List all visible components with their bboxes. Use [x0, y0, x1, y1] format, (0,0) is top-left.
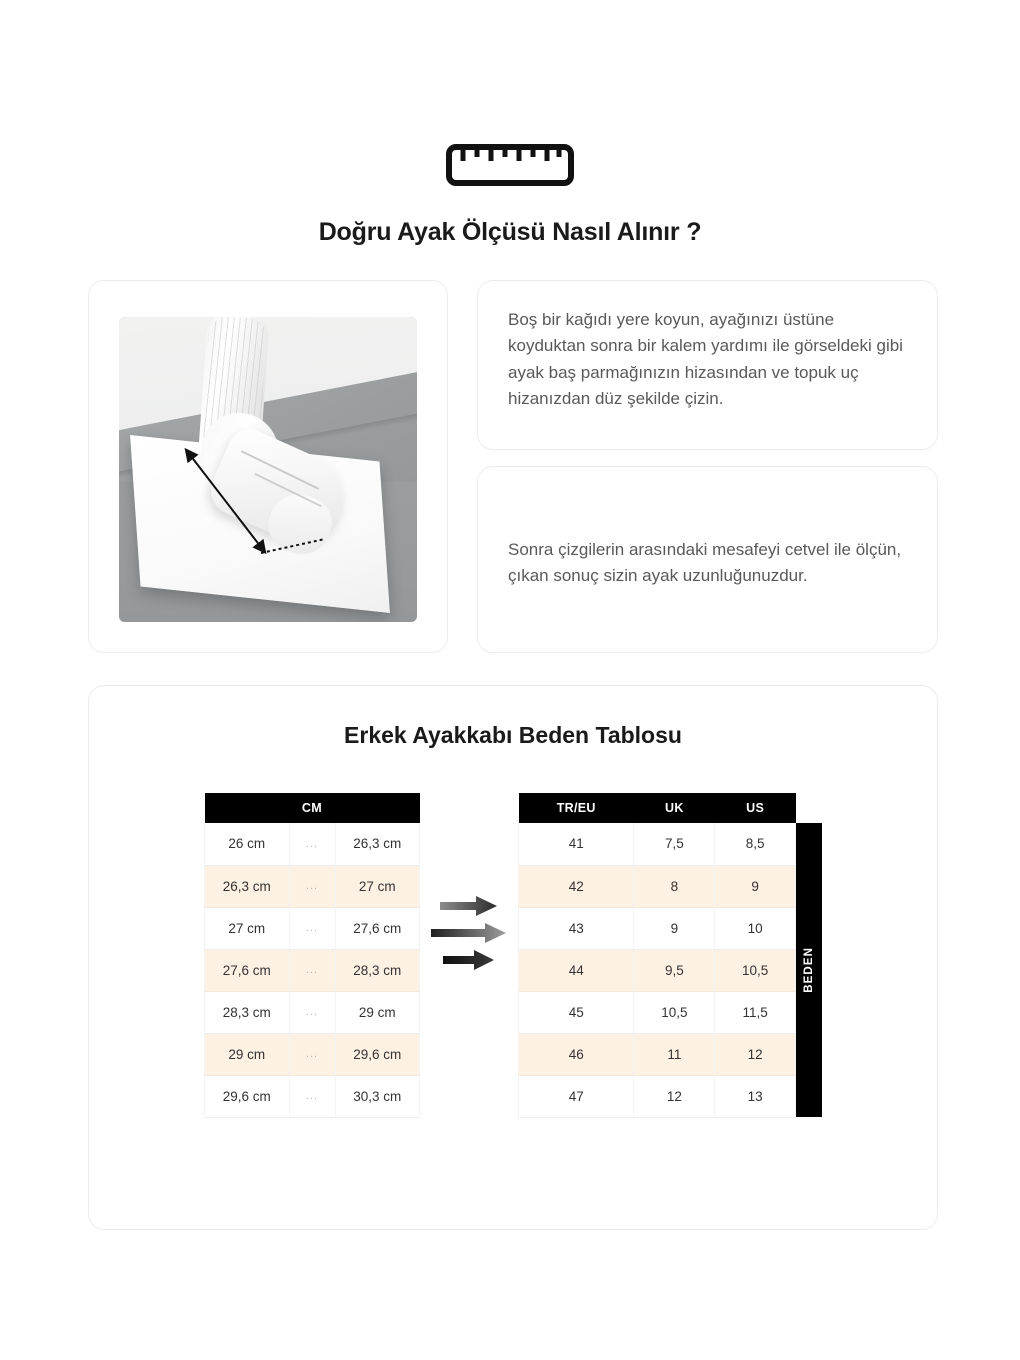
size-us: 9	[715, 865, 796, 907]
size-table-header-row: TR/EU UK US	[519, 793, 796, 823]
size-treu: 43	[519, 907, 634, 949]
cm-to: 28,3 cm	[335, 949, 420, 991]
cm-separator: ...	[289, 991, 335, 1033]
instruction-card-1: Boş bir kağıdı yere koyun, ayağınızı üst…	[477, 280, 938, 450]
size-us: 8,5	[715, 823, 796, 865]
cm-separator: ...	[289, 865, 335, 907]
ruler-icon-container	[0, 144, 1020, 186]
instruction-cards: Boş bir kağıdı yere koyun, ayağınızı üst…	[477, 280, 938, 655]
size-treu: 44	[519, 949, 634, 991]
size-treu: 42	[519, 865, 634, 907]
table-row: 44 9,5 10,5	[519, 949, 796, 991]
arrow-right-icon-3	[443, 950, 495, 970]
size-uk: 9	[634, 907, 715, 949]
cm-from: 29,6 cm	[205, 1075, 290, 1117]
cm-header-cell: CM	[205, 793, 420, 823]
photo-card	[88, 280, 448, 653]
cm-separator: ...	[289, 949, 335, 991]
size-uk: 7,5	[634, 823, 715, 865]
cm-to: 27 cm	[335, 865, 420, 907]
size-tables-row: CM 26 cm ... 26,3 cm 26,3 cm ... 27 cm	[89, 793, 937, 1118]
instruction-card-2: Sonra çizgilerin arasındaki mesafeyi cet…	[477, 466, 938, 653]
size-table: TR/EU UK US 41 7,5 8,5 42 8	[518, 793, 796, 1118]
size-table-body: 41 7,5 8,5 42 8 9 43 9 10	[519, 823, 796, 1117]
cm-to: 30,3 cm	[335, 1075, 420, 1117]
size-us: 10	[715, 907, 796, 949]
table-row: 47 12 13	[519, 1075, 796, 1117]
cm-to: 29 cm	[335, 991, 420, 1033]
table-row: 29 cm ... 29,6 cm	[205, 1033, 420, 1075]
size-us: 13	[715, 1075, 796, 1117]
table-row: 27,6 cm ... 28,3 cm	[205, 949, 420, 991]
ruler-icon	[446, 144, 574, 186]
table-row: 41 7,5 8,5	[519, 823, 796, 865]
size-header-uk: UK	[634, 793, 715, 823]
cm-separator: ...	[289, 1033, 335, 1075]
table-row: 29,6 cm ... 30,3 cm	[205, 1075, 420, 1117]
size-us: 11,5	[715, 991, 796, 1033]
cm-separator: ...	[289, 907, 335, 949]
cm-table-head: CM	[205, 793, 420, 823]
cm-from: 27,6 cm	[205, 949, 290, 991]
table-row: 27 cm ... 27,6 cm	[205, 907, 420, 949]
cm-from: 26 cm	[205, 823, 290, 865]
page-title: Doğru Ayak Ölçüsü Nasıl Alınır ?	[0, 218, 1020, 247]
arrow-right-icon-2	[431, 923, 507, 943]
size-uk: 11	[634, 1033, 715, 1075]
beden-side-bar: BEDEN	[796, 823, 822, 1117]
table-row: 42 8 9	[519, 865, 796, 907]
size-treu: 46	[519, 1033, 634, 1075]
size-table-head: TR/EU UK US	[519, 793, 796, 823]
conversion-arrows	[420, 793, 518, 970]
measurement-arrow-icon	[119, 317, 417, 622]
table-row: 45 10,5 11,5	[519, 991, 796, 1033]
size-treu: 45	[519, 991, 634, 1033]
arrow-right-icon-1	[440, 896, 498, 916]
cm-from: 26,3 cm	[205, 865, 290, 907]
size-uk: 8	[634, 865, 715, 907]
cm-from: 29 cm	[205, 1033, 290, 1075]
cm-separator: ...	[289, 823, 335, 865]
table-row: 28,3 cm ... 29 cm	[205, 991, 420, 1033]
cm-separator: ...	[289, 1075, 335, 1117]
table-row: 46 11 12	[519, 1033, 796, 1075]
size-uk: 10,5	[634, 991, 715, 1033]
foot-on-paper-photo	[119, 317, 417, 622]
size-uk: 9,5	[634, 949, 715, 991]
instruction-text-2: Sonra çizgilerin arasındaki mesafeyi cet…	[508, 537, 907, 590]
table-row: 26 cm ... 26,3 cm	[205, 823, 420, 865]
cm-to: 26,3 cm	[335, 823, 420, 865]
size-uk: 12	[634, 1075, 715, 1117]
size-treu: 41	[519, 823, 634, 865]
beden-label: BEDEN	[803, 947, 815, 993]
cm-to: 29,6 cm	[335, 1033, 420, 1075]
instructions-row: Boş bir kağıdı yere koyun, ayağınızı üst…	[88, 280, 938, 655]
cm-to: 27,6 cm	[335, 907, 420, 949]
table-row: 26,3 cm ... 27 cm	[205, 865, 420, 907]
size-table-title: Erkek Ayakkabı Beden Tablosu	[89, 722, 937, 749]
cm-from: 27 cm	[205, 907, 290, 949]
size-table-wrap: TR/EU UK US 41 7,5 8,5 42 8	[518, 793, 822, 1118]
cm-table-body: 26 cm ... 26,3 cm 26,3 cm ... 27 cm 27 c…	[205, 823, 420, 1117]
size-us: 12	[715, 1033, 796, 1075]
size-us: 10,5	[715, 949, 796, 991]
cm-table: CM 26 cm ... 26,3 cm 26,3 cm ... 27 cm	[204, 793, 420, 1118]
table-row: 43 9 10	[519, 907, 796, 949]
cm-table-header-row: CM	[205, 793, 420, 823]
cm-from: 28,3 cm	[205, 991, 290, 1033]
size-treu: 47	[519, 1075, 634, 1117]
size-guide-page: Doğru Ayak Ölçüsü Nasıl Alınır ?	[0, 0, 1020, 1360]
size-table-card: Erkek Ayakkabı Beden Tablosu CM 26 cm ..…	[88, 685, 938, 1230]
size-header-treu: TR/EU	[519, 793, 634, 823]
size-header-us: US	[715, 793, 796, 823]
instruction-text-1: Boş bir kağıdı yere koyun, ayağınızı üst…	[508, 307, 907, 412]
